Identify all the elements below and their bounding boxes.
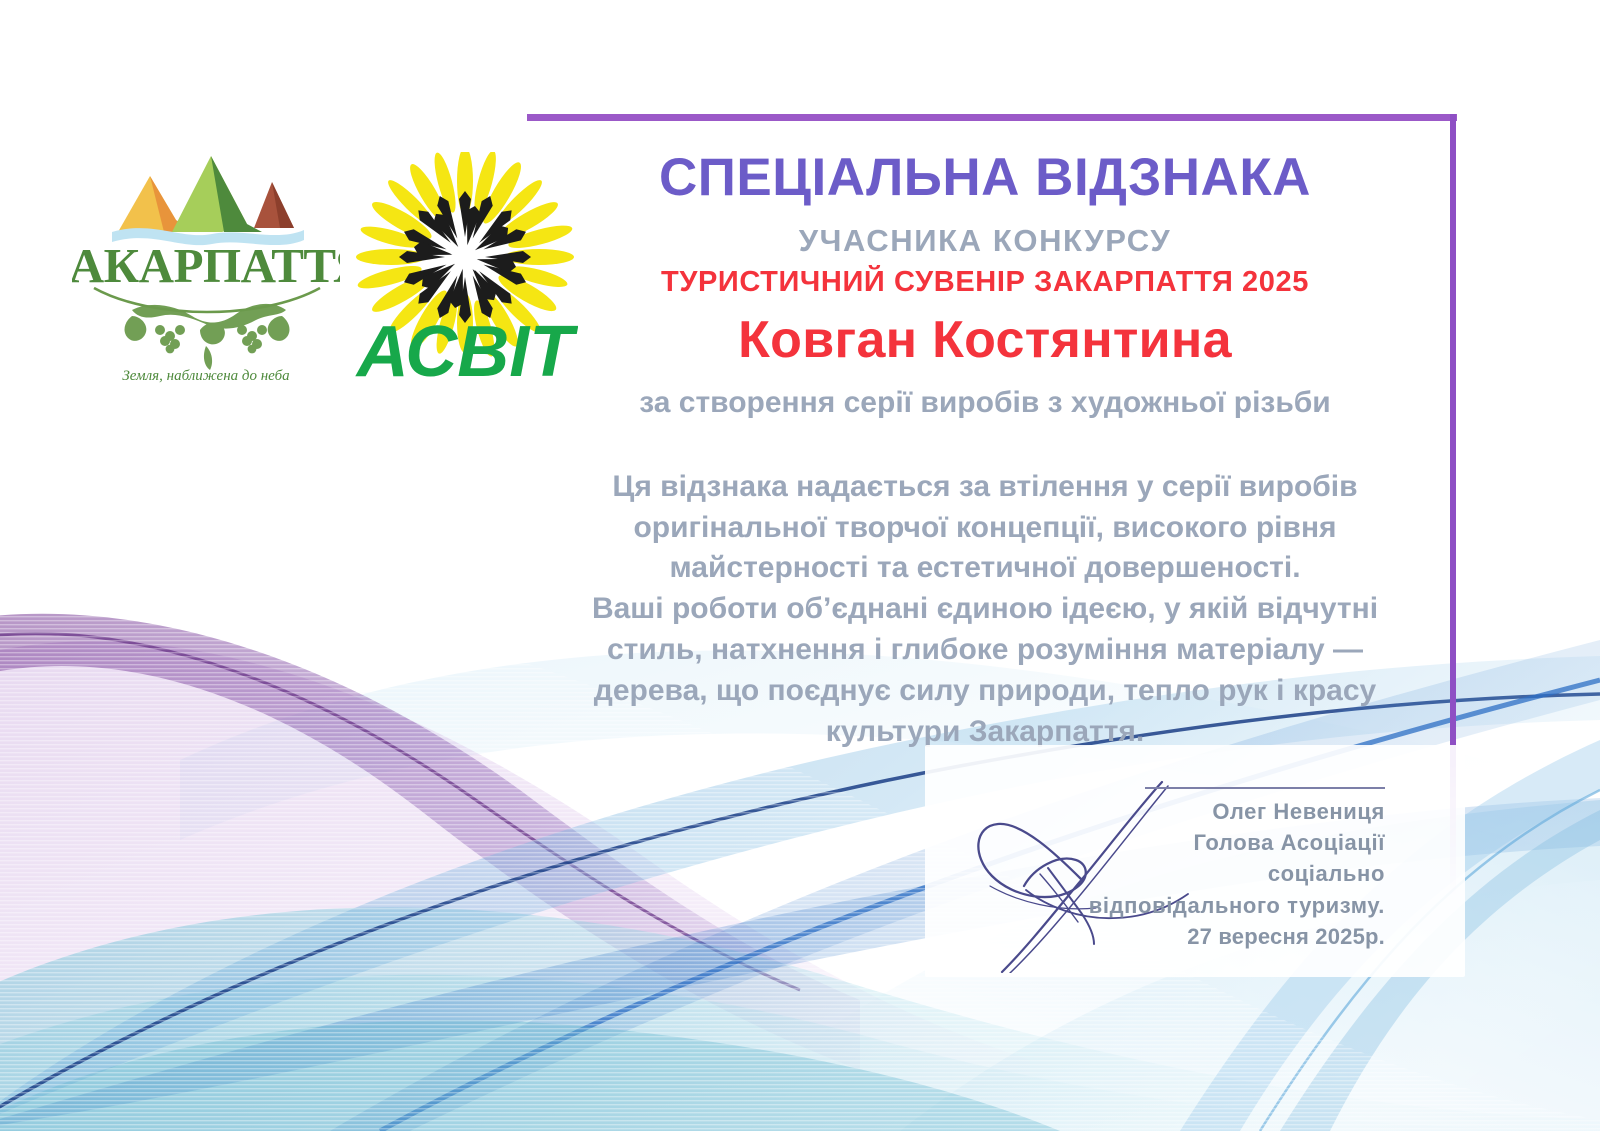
citation-line: Ця відзнака надається за втілення у сері… — [540, 467, 1430, 508]
signer-title-line-1: Голова Асоціації — [985, 827, 1385, 858]
signer-name: Олег Невениця — [985, 796, 1385, 827]
citation-line: майстерності та естетичної довершеності. — [540, 548, 1430, 589]
zakarpattia-logo: ЗАКАРПАТТЯ Земля, наближена до неба — [72, 140, 340, 390]
citation-line: дерева, що поєднує силу природи, тепло р… — [540, 671, 1430, 712]
svg-text:ЗАКАРПАТТЯ: ЗАКАРПАТТЯ — [72, 238, 340, 293]
signer-title-line-3: відповідального туризму. — [985, 890, 1385, 921]
certificate-text-column: СПЕЦІАЛЬНА ВІДЗНАКА УЧАСНИКА КОНКУРСУ ТУ… — [540, 140, 1430, 752]
zakarpattia-tagline: Земля, наближена до неба — [122, 368, 289, 384]
citation-line: Ваші роботи об’єднані єдиною ідеєю, у як… — [540, 589, 1430, 630]
citation-line: стиль, натхнення і глибоке розуміння мат… — [540, 630, 1430, 671]
signature-rule — [1145, 787, 1385, 789]
signer-title-line-2: соціально — [985, 858, 1385, 889]
recipient-name: Ковган Костянтина — [540, 311, 1430, 369]
recipient-achievement: за створення серії виробів з художньої р… — [540, 385, 1430, 421]
frame-top-border — [527, 114, 1457, 121]
citation-line: оригінальної творчої концепції, високого… — [540, 508, 1430, 549]
competition-name: ТУРИСТИЧНИЙ СУВЕНІР ЗАКАРПАТТЯ 2025 — [540, 267, 1430, 299]
signature-date: 27 вересня 2025р. — [985, 921, 1385, 952]
certificate-page: ЗАКАРПАТТЯ Земля, наближена до неба — [0, 0, 1600, 1131]
citation-text: Ця відзнака надається за втілення у сері… — [540, 467, 1430, 753]
signature-details: Олег Невениця Голова Асоціації соціально… — [985, 796, 1385, 952]
award-title: СПЕЦІАЛЬНА ВІДЗНАКА — [540, 140, 1430, 206]
sunflower-core — [399, 191, 531, 323]
award-subtitle: УЧАСНИКА КОНКУРСУ — [540, 224, 1430, 258]
